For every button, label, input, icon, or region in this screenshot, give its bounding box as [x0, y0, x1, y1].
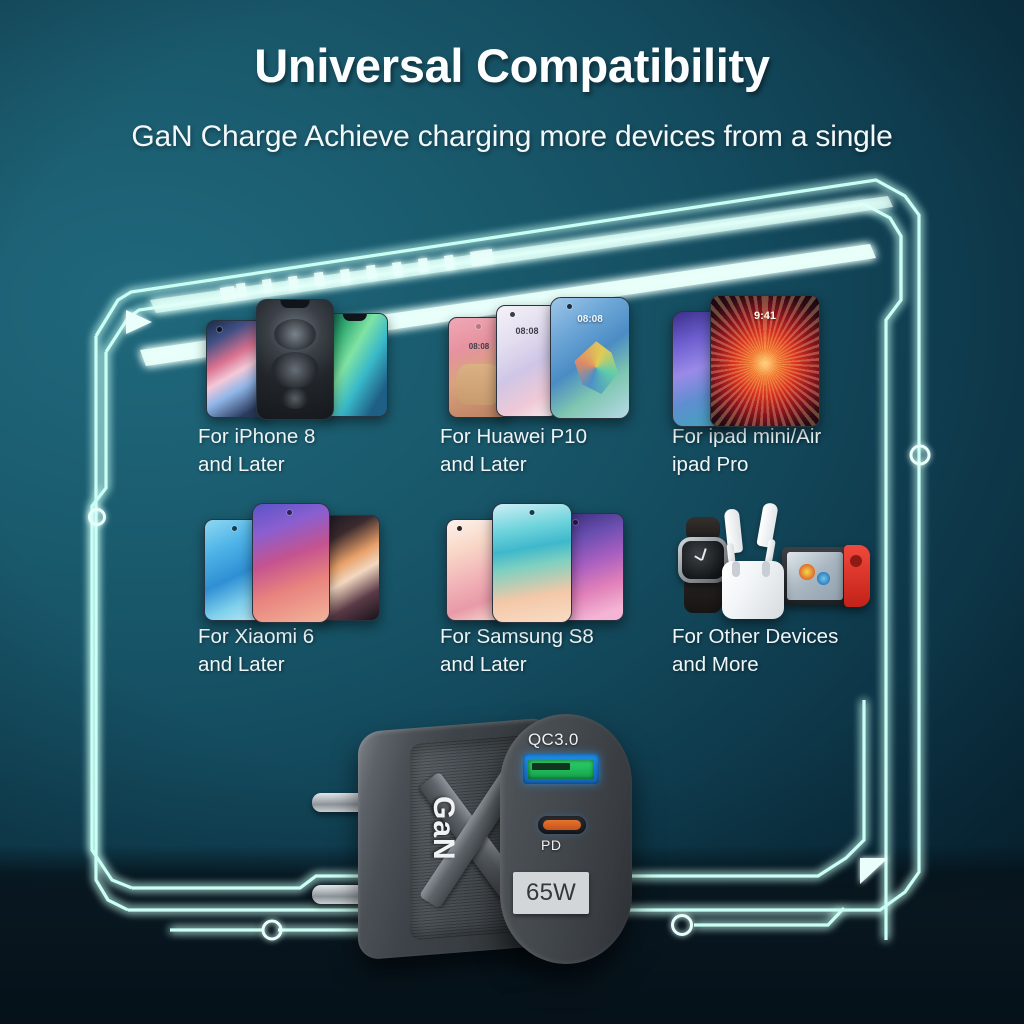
- huawei-blue-clock: 08:08: [551, 314, 629, 325]
- gan-charger-product: GaN QC3.0 PD 65W: [330, 700, 660, 1000]
- charger-brand-label: GaN: [426, 796, 460, 861]
- device-cell-huawei: 08:08 08:08 08:08 For Huawei P10 and Lat…: [440, 295, 670, 479]
- wattage-badge: 65W: [513, 872, 589, 914]
- wattage-text: 65W: [526, 879, 576, 907]
- device-cell-other: For Other Devices and More: [672, 503, 922, 679]
- huawei-white-thumb: 08:08: [496, 305, 558, 417]
- device-cell-samsung: For Samsung S8 and Later: [440, 503, 670, 679]
- device-thumbnails-ipad: 9:41: [672, 295, 912, 423]
- device-caption-other: For Other Devices and More: [672, 623, 922, 679]
- device-caption-huawei: For Huawei P10 and Later: [440, 423, 670, 479]
- samsung-cyan-thumb: [492, 503, 572, 623]
- usb-c-port-label: PD: [541, 837, 561, 853]
- airpods-thumb: [716, 503, 796, 621]
- device-thumbnails-huawei: 08:08 08:08 08:08: [440, 295, 670, 423]
- device-thumbnails-xiaomi: [198, 503, 428, 623]
- device-cell-xiaomi: For Xiaomi 6 and Later: [198, 503, 428, 679]
- device-cell-ipad: 9:41 For ipad mini/Air ipad Pro: [672, 295, 912, 479]
- usb-c-port: [538, 816, 586, 834]
- device-caption-xiaomi: For Xiaomi 6 and Later: [198, 623, 428, 679]
- device-cell-iphone: For iPhone 8 and Later: [198, 295, 428, 479]
- iphone-dark-thumb: [256, 299, 334, 420]
- device-thumbnails-other: [672, 503, 922, 623]
- usb-a-port: [523, 754, 599, 784]
- device-thumbnails-samsung: [440, 503, 670, 623]
- device-compatibility-grid: For iPhone 8 and Later 08:08 08:08 08:08: [0, 295, 1024, 715]
- product-infographic: Universal Compatibility GaN Charge Achie…: [0, 0, 1024, 1024]
- usb-a-port-label: QC3.0: [528, 730, 579, 750]
- device-caption-samsung: For Samsung S8 and Later: [440, 623, 670, 679]
- huawei-white-clock: 08:08: [497, 326, 557, 336]
- charger-port-head: [500, 714, 632, 964]
- device-caption-ipad: For ipad mini/Air ipad Pro: [672, 423, 912, 479]
- device-caption-iphone: For iPhone 8 and Later: [198, 423, 428, 479]
- xiaomi-purple-thumb: [252, 503, 330, 623]
- device-thumbnails-iphone: [198, 295, 428, 423]
- ipad-red-thumb: 9:41: [710, 295, 820, 427]
- huawei-blue-thumb: 08:08: [550, 297, 630, 419]
